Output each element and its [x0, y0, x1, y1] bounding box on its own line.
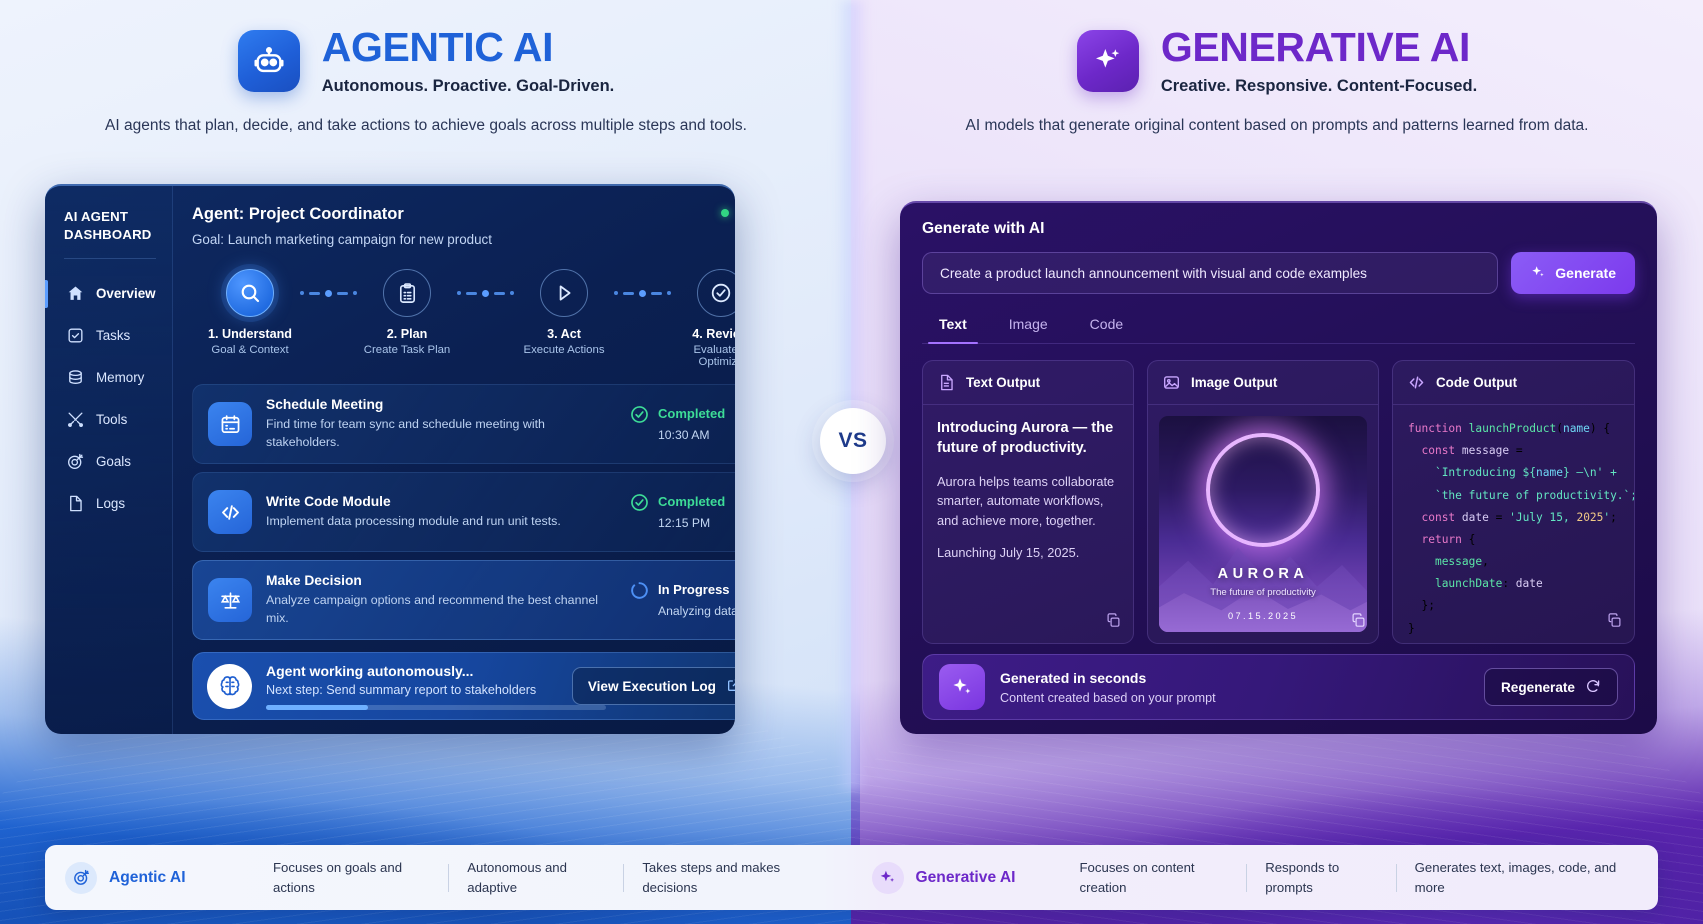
status-badge: Active: [721, 205, 735, 220]
tab-image[interactable]: Image: [992, 308, 1065, 343]
step-title: 2. Plan: [359, 327, 455, 341]
step-connector: [455, 269, 516, 317]
task-status-detail: 12:15 PM: [658, 516, 725, 532]
calendar-icon: [208, 402, 252, 446]
code-brackets-icon: [1407, 373, 1426, 392]
scales-icon: [208, 578, 252, 622]
target-icon: [66, 452, 85, 471]
text-output-heading: Introducing Aurora — the future of produ…: [937, 419, 1119, 459]
sparkle-icon: [872, 862, 904, 894]
infographic-canvas: AGENTIC AI Autonomous. Proactive. Goal-D…: [0, 0, 1703, 924]
code-output-card: Code Output function launchProduct(name)…: [1392, 360, 1635, 644]
generation-status-subtitle: Content created based on your prompt: [1000, 691, 1469, 705]
header-generative: GENERATIVE AI Creative. Responsive. Cont…: [851, 26, 1703, 137]
summary-agentic: Agentic AI Focuses on goals and actions …: [45, 845, 852, 910]
task-name: Write Code Module: [266, 494, 615, 509]
task-status-label: Completed: [658, 494, 725, 509]
code-block: function launchProduct(name) { const mes…: [1393, 405, 1634, 640]
agent-dashboard-card: AI AGENT DASHBOARD Overview Tasks Memory: [45, 184, 735, 734]
view-execution-log-button[interactable]: View Execution Log: [572, 667, 735, 705]
vs-label: VS: [820, 408, 886, 474]
vs-badge: VS: [810, 408, 896, 474]
output-cards: Text Output Introducing Aurora — the fut…: [900, 344, 1657, 644]
sidebar-label: Tasks: [96, 328, 130, 343]
step-connector: [298, 269, 359, 317]
task-row[interactable]: Write Code Module Implement data process…: [192, 472, 735, 552]
code-line: launchDate: date: [1408, 573, 1619, 595]
summary-point: Autonomous and adaptive: [449, 858, 623, 898]
description-generative: AI models that generate original content…: [851, 114, 1703, 138]
code-icon: [208, 490, 252, 534]
progress-fill: [266, 705, 368, 710]
sidebar-label: Tools: [96, 412, 127, 427]
summary-point: Focuses on goals and actions: [255, 858, 448, 898]
text-output-card: Text Output Introducing Aurora — the fut…: [922, 360, 1134, 644]
task-status-detail: 10:30 AM: [658, 428, 725, 444]
tagline-generative: Creative. Responsive. Content-Focused.: [1161, 77, 1477, 96]
document-icon: [66, 494, 85, 513]
clipboard-icon: [383, 269, 431, 317]
step-act[interactable]: 3. Act Execute Actions: [516, 269, 612, 356]
image-icon: [1162, 373, 1181, 392]
text-output-paragraph: Aurora helps teams collaborate smarter, …: [937, 472, 1119, 530]
search-icon: [226, 269, 274, 317]
tab-code[interactable]: Code: [1073, 308, 1140, 343]
tab-text[interactable]: Text: [922, 308, 984, 343]
prompt-input[interactable]: Create a product launch announcement wit…: [922, 252, 1498, 294]
sidebar-item-logs[interactable]: Logs: [64, 483, 172, 525]
progress-bar: [266, 705, 606, 710]
task-list: Schedule Meeting Find time for team sync…: [192, 384, 735, 640]
sparkle-icon: [939, 664, 985, 710]
code-line: }: [1408, 618, 1619, 640]
summary-point: Focuses on content creation: [1062, 858, 1247, 898]
image-output-card: Image Output AURORA The future of produc…: [1147, 360, 1379, 644]
target-icon: [65, 862, 97, 894]
header-agentic: AGENTIC AI Autonomous. Proactive. Goal-D…: [0, 26, 852, 137]
code-line: };: [1408, 595, 1619, 617]
agent-activity-bar: Agent working autonomously... Next step:…: [192, 652, 735, 720]
task-row[interactable]: Make Decision Analyze campaign options a…: [192, 560, 735, 640]
generation-status-bar: Generated in seconds Content created bas…: [922, 654, 1635, 720]
summary-point: Takes steps and makes decisions: [624, 858, 837, 898]
sidebar-item-overview[interactable]: Overview: [64, 273, 172, 315]
step-subtitle: Create Task Plan: [359, 344, 455, 356]
sidebar-divider: [64, 258, 156, 259]
summary-generative: Generative AI Focuses on content creatio…: [852, 845, 1659, 910]
database-icon: [66, 368, 85, 387]
text-output-title: Text Output: [966, 375, 1040, 390]
sidebar-label: Overview: [96, 286, 156, 301]
status-dot-icon: [721, 209, 729, 217]
prompt-value: Create a product launch announcement wit…: [940, 266, 1367, 281]
generative-panel: Generate with AI Create a product launch…: [900, 201, 1657, 734]
sidebar-label: Memory: [96, 370, 144, 385]
glow-ring-shape: [1206, 433, 1320, 547]
agent-name: Agent: Project Coordinator: [192, 205, 492, 224]
agent-activity-title: Agent working autonomously...: [266, 663, 558, 679]
dashboard-main: Agent: Project Coordinator Goal: Launch …: [173, 186, 735, 734]
step-subtitle: Goal & Context: [202, 344, 298, 356]
tools-icon: [66, 410, 85, 429]
task-status-label: Completed: [658, 406, 725, 421]
summary-point: Responds to prompts: [1247, 858, 1396, 898]
copy-icon[interactable]: [1606, 612, 1623, 634]
step-connector: [612, 269, 673, 317]
image-caption-word: AURORA: [1159, 566, 1367, 582]
tagline-agentic: Autonomous. Proactive. Goal-Driven.: [322, 77, 614, 96]
step-title: 4. Review: [673, 327, 735, 341]
page-title-generative: GENERATIVE AI: [1161, 26, 1477, 69]
summary-brand-name: Generative AI: [916, 869, 1016, 887]
document-icon: [937, 373, 956, 392]
sidebar-title: AI AGENT DASHBOARD: [64, 208, 172, 244]
generate-button[interactable]: Generate: [1511, 252, 1635, 294]
play-icon: [540, 269, 588, 317]
code-line: const message =: [1408, 440, 1619, 462]
refresh-icon: [1585, 678, 1601, 697]
task-name: Make Decision: [266, 573, 615, 588]
agent-next-step: Next step: Send summary report to stakeh…: [266, 683, 558, 697]
copy-icon[interactable]: [1350, 612, 1367, 634]
external-link-icon: [726, 677, 735, 696]
agent-goal: Goal: Launch marketing campaign for new …: [192, 232, 492, 247]
sidebar-item-tasks[interactable]: Tasks: [64, 315, 172, 357]
code-line: `the future of productivity.`;: [1408, 485, 1619, 507]
view-execution-log-label: View Execution Log: [588, 679, 716, 694]
regenerate-button[interactable]: Regenerate: [1484, 668, 1618, 706]
check-circle-icon: [697, 269, 735, 317]
step-review[interactable]: 4. Review Evaluate & Optimize: [673, 269, 735, 368]
task-status-detail: Analyzing data...: [658, 604, 735, 620]
summary-brand-name: Agentic AI: [109, 869, 186, 887]
generation-status-title: Generated in seconds: [1000, 670, 1469, 686]
step-plan[interactable]: 2. Plan Create Task Plan: [359, 269, 455, 356]
image-output-title: Image Output: [1191, 375, 1277, 390]
description-agentic: AI agents that plan, decide, and take ac…: [0, 114, 852, 138]
code-output-title: Code Output: [1436, 375, 1517, 390]
panel-title: Generate with AI: [922, 220, 1635, 238]
check-circle-icon: [629, 492, 650, 518]
task-name: Schedule Meeting: [266, 397, 615, 412]
task-description: Find time for team sync and schedule mee…: [266, 416, 615, 452]
step-title: 1. Understand: [202, 327, 298, 341]
workflow-steps: 1. Understand Goal & Context 2. Plan Cre…: [192, 269, 735, 368]
robot-icon: [238, 30, 300, 92]
sparkle-icon: [1077, 30, 1139, 92]
step-subtitle: Evaluate & Optimize: [673, 344, 735, 368]
step-understand[interactable]: 1. Understand Goal & Context: [202, 269, 298, 356]
check-circle-icon: [629, 404, 650, 430]
output-tabs: Text Image Code: [922, 308, 1635, 344]
image-caption-date: 07.15.2025: [1159, 611, 1367, 621]
sidebar-item-memory[interactable]: Memory: [64, 357, 172, 399]
copy-icon[interactable]: [1105, 612, 1122, 634]
comparison-summary-bar: Agentic AI Focuses on goals and actions …: [45, 845, 1658, 910]
sidebar-item-goals[interactable]: Goals: [64, 441, 172, 483]
sidebar-label: Goals: [96, 454, 131, 469]
sidebar-item-tools[interactable]: Tools: [64, 399, 172, 441]
generated-image: AURORA The future of productivity 07.15.…: [1159, 416, 1367, 632]
task-status-label: In Progress: [658, 582, 730, 597]
dashboard-sidebar: AI AGENT DASHBOARD Overview Tasks Memory: [45, 186, 173, 734]
generate-label: Generate: [1555, 265, 1616, 281]
brain-icon: [207, 664, 252, 709]
task-description: Analyze campaign options and recommend t…: [266, 592, 615, 628]
step-subtitle: Execute Actions: [516, 344, 612, 356]
checkbox-icon: [66, 326, 85, 345]
code-line: function launchProduct(name) {: [1408, 418, 1619, 440]
spinner-icon: [629, 580, 650, 606]
step-title: 3. Act: [516, 327, 612, 341]
code-line: `Introducing ${name} —\n' +: [1408, 462, 1619, 484]
sparkle-icon: [1530, 264, 1546, 283]
text-output-launch: Launching July 15, 2025.: [937, 543, 1119, 562]
code-line: message,: [1408, 551, 1619, 573]
sidebar-label: Logs: [96, 496, 125, 511]
page-title-agentic: AGENTIC AI: [322, 26, 614, 69]
summary-point: Generates text, images, code, and more: [1397, 858, 1644, 898]
image-caption-sub: The future of productivity: [1159, 587, 1367, 598]
regenerate-label: Regenerate: [1501, 680, 1575, 695]
task-row[interactable]: Schedule Meeting Find time for team sync…: [192, 384, 735, 464]
task-description: Implement data processing module and run…: [266, 513, 615, 531]
code-line: const date = 'July 15, 2025';: [1408, 507, 1619, 529]
home-icon: [66, 284, 85, 303]
code-line: return {: [1408, 529, 1619, 551]
